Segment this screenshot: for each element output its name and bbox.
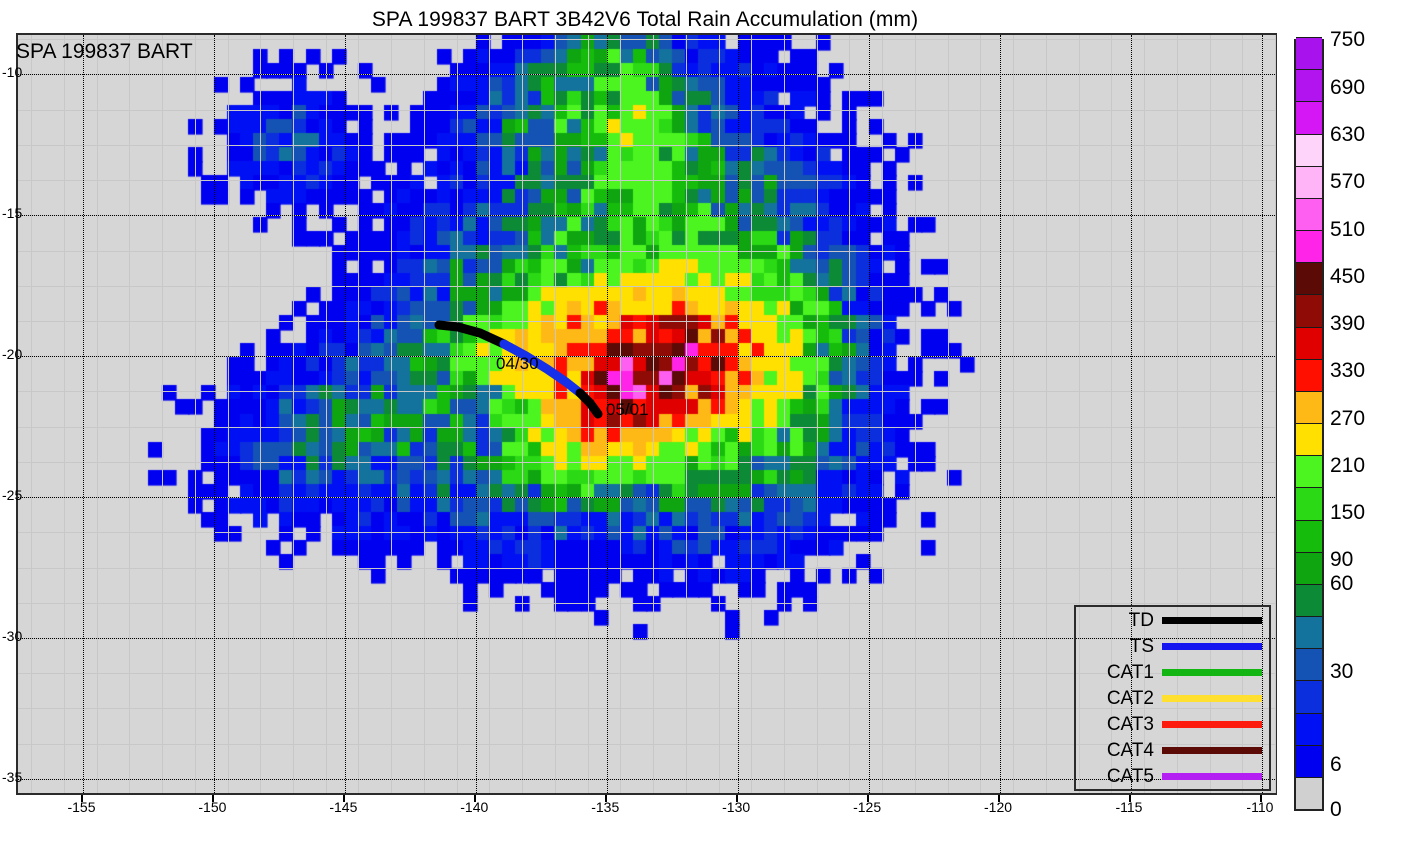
colorbar-cell	[1296, 166, 1322, 198]
colorbar-cell	[1296, 262, 1322, 294]
colorbar-cell	[1296, 616, 1322, 648]
colorbar-tick-label: 690	[1330, 76, 1365, 100]
legend-label: TD	[1080, 611, 1162, 630]
legend-color-swatch	[1162, 695, 1262, 702]
colorbar-cell	[1296, 713, 1322, 745]
legend-color-swatch	[1162, 747, 1262, 754]
colorbar-cell	[1296, 230, 1322, 262]
colorbar-tick-label: 60	[1330, 572, 1353, 596]
x-axis-tick-mark	[212, 795, 214, 802]
minor-gridline-v	[1275, 35, 1276, 793]
colorbar-tick-label: 630	[1330, 123, 1365, 147]
colorbar-tick-label: 450	[1330, 265, 1365, 289]
track-segment	[580, 393, 598, 414]
colorbar-cell	[1296, 680, 1322, 712]
colorbar-tick-label: 270	[1330, 407, 1365, 431]
colorbar-cell	[1296, 455, 1322, 487]
colorbar-cell	[1296, 359, 1322, 391]
legend-label: CAT4	[1080, 741, 1162, 760]
x-axis-tick-mark	[1260, 795, 1262, 802]
legend-label: CAT1	[1080, 663, 1162, 682]
legend-row: CAT1	[1076, 659, 1269, 685]
y-axis-tick-label: -15	[2, 205, 22, 221]
colorbar-tick-label: 390	[1330, 312, 1365, 336]
track-date-label: 05/01	[606, 400, 649, 420]
page-title: SPA 199837 BART 3B42V6 Total Rain Accumu…	[0, 8, 1290, 32]
legend-label: CAT5	[1080, 767, 1162, 786]
legend-row: CAT2	[1076, 685, 1269, 711]
colorbar-cell	[1296, 327, 1322, 359]
legend-color-swatch	[1162, 617, 1262, 624]
y-axis-tick-label: -10	[2, 64, 22, 80]
colorbar-tick-label: 30	[1330, 660, 1353, 684]
legend-row: CAT5	[1076, 763, 1269, 789]
colorbar-cell	[1296, 134, 1322, 166]
x-axis-tick-mark	[474, 795, 476, 802]
y-axis-tick-label: -20	[2, 346, 22, 362]
colorbar-cell	[1296, 648, 1322, 680]
colorbar-cell	[1296, 101, 1322, 133]
legend-label: CAT2	[1080, 689, 1162, 708]
x-axis-tick-mark	[343, 795, 345, 802]
legend-row: TD	[1076, 607, 1269, 633]
legend-row: CAT3	[1076, 711, 1269, 737]
x-axis-tick-mark	[998, 795, 1000, 802]
track-date-label: 04/30	[496, 354, 539, 374]
y-axis-tick-label: -25	[2, 487, 22, 503]
x-axis-tick-mark	[1129, 795, 1131, 802]
legend-label: CAT3	[1080, 715, 1162, 734]
x-axis-tick-mark	[867, 795, 869, 802]
legend-color-swatch	[1162, 669, 1262, 676]
track-category-legend: TDTSCAT1CAT2CAT3CAT4CAT5	[1074, 605, 1271, 791]
x-axis-tick-mark	[736, 795, 738, 802]
colorbar-cell	[1296, 391, 1322, 423]
colorbar-cell	[1296, 198, 1322, 230]
colorbar-tick-label: 0	[1330, 798, 1342, 822]
colorbar-cell	[1296, 69, 1322, 101]
legend-label: TS	[1080, 637, 1162, 656]
legend-color-swatch	[1162, 643, 1262, 650]
colorbar-cell	[1296, 745, 1322, 777]
colorbar-tick-label: 6	[1330, 753, 1342, 777]
colorbar-tick-label: 210	[1330, 454, 1365, 478]
colorbar-cell	[1296, 584, 1322, 616]
colorbar-tick-label: 330	[1330, 359, 1365, 383]
colorbar-cell	[1296, 37, 1322, 69]
legend-row: TS	[1076, 633, 1269, 659]
colorbar-tick-label: 570	[1330, 170, 1365, 194]
colorbar-tick-label: 750	[1330, 28, 1365, 52]
y-axis-tick-label: -35	[2, 769, 22, 785]
colorbar	[1294, 39, 1324, 811]
colorbar-cell	[1296, 294, 1322, 326]
colorbar-cell	[1296, 487, 1322, 519]
colorbar-tick-label: 510	[1330, 218, 1365, 242]
colorbar-tick-label: 90	[1330, 548, 1353, 572]
legend-row: CAT4	[1076, 737, 1269, 763]
colorbar-tick-label: 150	[1330, 501, 1365, 525]
x-axis-tick-mark	[605, 795, 607, 802]
colorbar-cell	[1296, 552, 1322, 584]
x-axis-tick-mark	[81, 795, 83, 802]
colorbar-cell	[1296, 777, 1322, 809]
legend-color-swatch	[1162, 773, 1262, 780]
track-segment	[439, 325, 504, 344]
y-axis-tick-label: -30	[2, 628, 22, 644]
colorbar-cell	[1296, 520, 1322, 552]
inplot-storm-label: SPA 199837 BART	[16, 40, 193, 64]
legend-color-swatch	[1162, 721, 1262, 728]
colorbar-cell	[1296, 423, 1322, 455]
